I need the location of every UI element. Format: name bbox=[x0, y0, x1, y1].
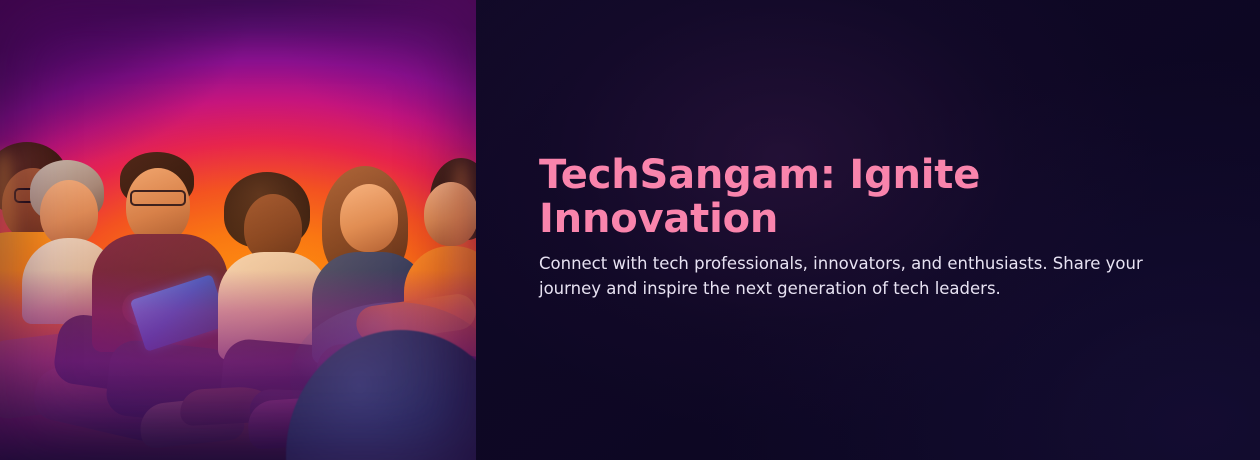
photo-floor-gradient bbox=[0, 270, 476, 460]
hero-headline: TechSangam: Ignite Innovation bbox=[539, 153, 1009, 242]
person-5-head bbox=[340, 184, 398, 252]
person-3-glasses bbox=[130, 190, 186, 206]
hero-subheadline: Connect with tech professionals, innovat… bbox=[539, 251, 1197, 301]
hero-copy-panel: TechSangam: Ignite Innovation Connect wi… bbox=[476, 0, 1260, 460]
person-3-head bbox=[126, 168, 190, 244]
person-2-head bbox=[40, 180, 98, 246]
hero-banner: TechSangam: Ignite Innovation Connect wi… bbox=[0, 0, 1260, 460]
hero-image-panel bbox=[0, 0, 476, 460]
